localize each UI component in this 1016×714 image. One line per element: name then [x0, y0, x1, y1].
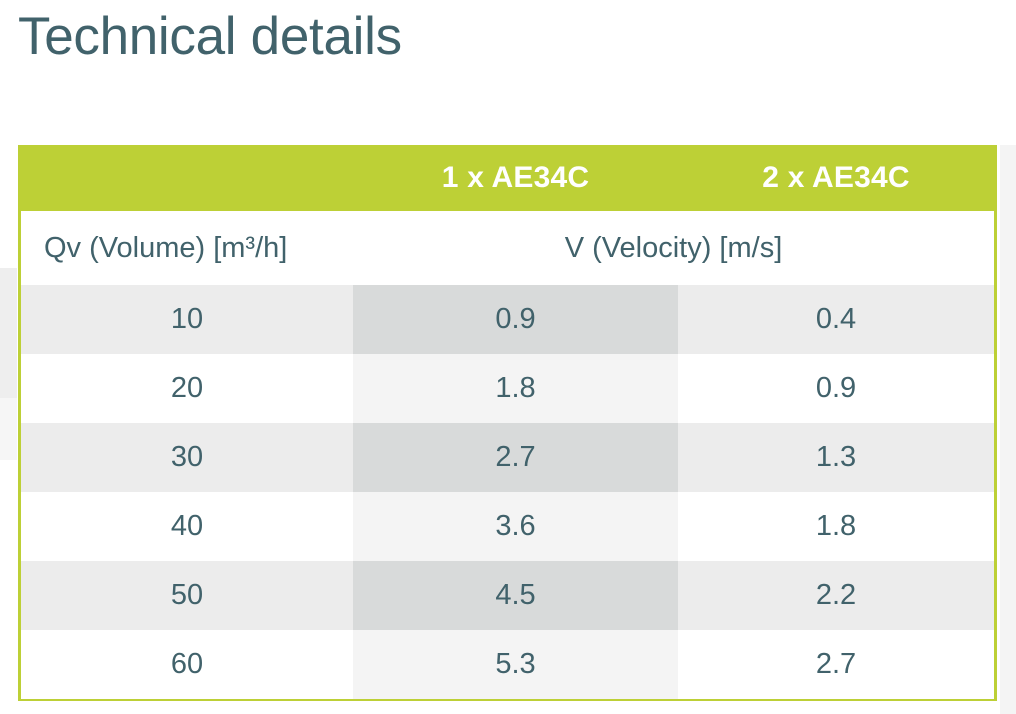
cell-1x: 2.7: [353, 423, 678, 492]
cell-2x: 0.9: [678, 354, 994, 423]
slide-edge-fragment-left-lower: [0, 398, 17, 460]
technical-details-table: 1 x AE34C 2 x AE34C Qv (Volume) [m³/h] V…: [21, 145, 994, 699]
page-title: Technical details: [18, 8, 402, 66]
cell-1x: 0.9: [353, 285, 678, 354]
cell-2x: 2.2: [678, 561, 994, 630]
units-label-velocity: V (Velocity) [m/s]: [353, 211, 994, 285]
table-row: 40 3.6 1.8: [21, 492, 994, 561]
table-row: 30 2.7 1.3: [21, 423, 994, 492]
table-body: 10 0.9 0.4 20 1.8 0.9 30 2.7 1.3 40 3.6 …: [21, 285, 994, 699]
technical-details-table-container: 1 x AE34C 2 x AE34C Qv (Volume) [m³/h] V…: [18, 145, 997, 701]
table-header-col-1x-ae34c: 1 x AE34C: [353, 145, 678, 211]
cell-1x: 1.8: [353, 354, 678, 423]
table-row: 20 1.8 0.9: [21, 354, 994, 423]
cell-qv: 40: [21, 492, 353, 561]
cell-2x: 0.4: [678, 285, 994, 354]
cell-1x: 3.6: [353, 492, 678, 561]
units-label-volume: Qv (Volume) [m³/h]: [21, 211, 353, 285]
slide-edge-fragment-left: [0, 268, 17, 398]
cell-1x: 5.3: [353, 630, 678, 699]
cell-2x: 1.8: [678, 492, 994, 561]
table-header-col-2x-ae34c: 2 x AE34C: [678, 145, 994, 211]
cell-qv: 30: [21, 423, 353, 492]
table-row: 60 5.3 2.7: [21, 630, 994, 699]
table-row: 50 4.5 2.2: [21, 561, 994, 630]
cell-qv: 10: [21, 285, 353, 354]
table-row: 10 0.9 0.4: [21, 285, 994, 354]
cell-1x: 4.5: [353, 561, 678, 630]
cell-2x: 1.3: [678, 423, 994, 492]
table-units-row: Qv (Volume) [m³/h] V (Velocity) [m/s]: [21, 211, 994, 285]
cell-2x: 2.7: [678, 630, 994, 699]
slide-edge-fragment-right: [1000, 145, 1016, 714]
table-header-row: 1 x AE34C 2 x AE34C: [21, 145, 994, 211]
cell-qv: 60: [21, 630, 353, 699]
table-header-corner: [21, 145, 353, 211]
cell-qv: 50: [21, 561, 353, 630]
cell-qv: 20: [21, 354, 353, 423]
